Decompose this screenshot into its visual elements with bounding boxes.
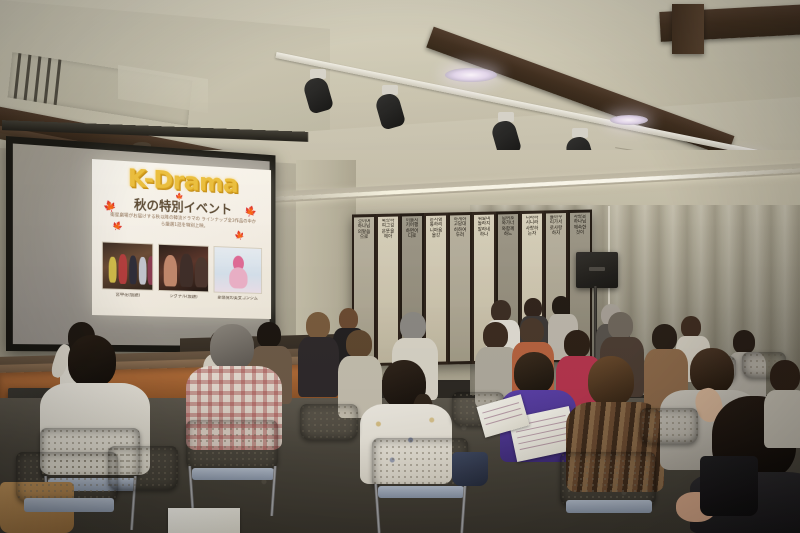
chair-seat[interactable] [24, 498, 114, 512]
folding-screen-panel: 하게하고담대히하여두려 [448, 212, 472, 365]
chair[interactable] [560, 452, 656, 506]
pa-speaker [576, 252, 618, 288]
track-spotlight-icon [572, 128, 588, 138]
chair[interactable] [108, 446, 178, 490]
projected-slide: K-Drama 秋の特別イベント 衛星劇場がお届けする秋以降の韓流ドラマの ライ… [92, 159, 271, 319]
chair-seat[interactable] [378, 486, 464, 498]
slide-thumbnail-row [102, 241, 262, 294]
panel-calligraphy: 하게하고담대히하여두려 [452, 217, 468, 359]
drama-thumb-consim [213, 246, 262, 294]
thumb-caption: シグナル(仮題) [158, 294, 208, 307]
chair-seat[interactable] [566, 500, 652, 513]
slide-title: K-Drama [98, 163, 266, 197]
drama-thumb-signal [158, 244, 208, 293]
slide-caption-row: 宮中花(仮題) シグナル(仮題) 新感覚の美女コンシム [102, 292, 262, 308]
track-spotlight-icon [382, 85, 398, 95]
thumb-caption: 宮中花(仮題) [102, 292, 154, 305]
program-leaflet[interactable] [168, 508, 240, 533]
draped-jacket [452, 452, 488, 486]
recessed-downlight-icon [445, 68, 497, 82]
ceiling-beam-column [672, 4, 704, 54]
chair[interactable] [186, 420, 278, 470]
recessed-downlight-icon [610, 115, 648, 125]
track-spotlight-icon [310, 69, 326, 79]
chair[interactable] [16, 452, 118, 502]
drama-thumb-palace [102, 241, 154, 290]
event-hall-photo: K-Drama 秋の特別イベント 衛星劇場がお届けする秋以降の韓流ドラマの ライ… [0, 0, 800, 533]
track-spotlight-icon [498, 112, 514, 122]
chair-seat[interactable] [192, 468, 274, 480]
chair[interactable] [300, 404, 358, 440]
shoulder-bag [700, 456, 758, 516]
chair[interactable] [640, 408, 698, 444]
panel-calligraphy: 묵상하여그깊은뜻을헤아 [380, 219, 396, 361]
thumb-caption: 新感覚の美女コンシム [213, 295, 262, 308]
